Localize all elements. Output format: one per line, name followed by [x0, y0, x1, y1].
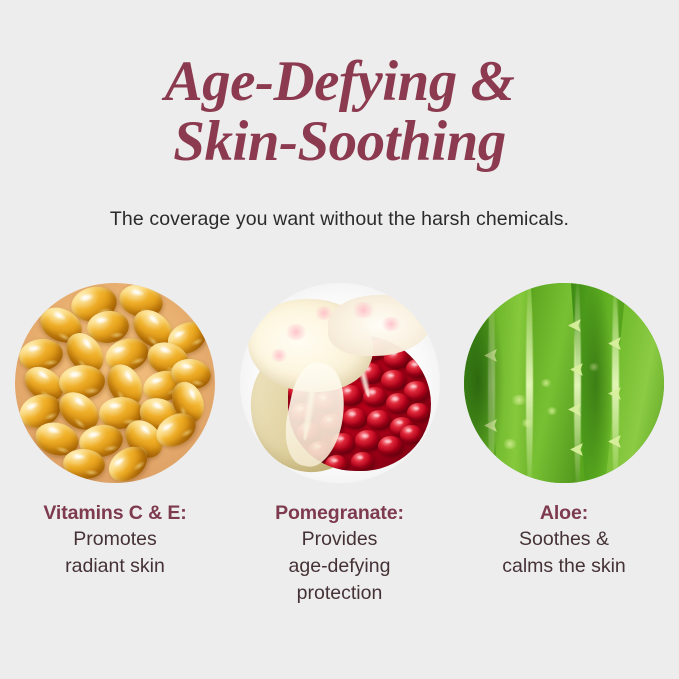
page-title-line-2: Skin-Soothing: [0, 112, 679, 172]
ingredient-body-line-1: Provides: [232, 526, 447, 553]
ingredient-title: Pomegranate:: [232, 500, 447, 526]
ingredient-title: Vitamins C & E:: [8, 500, 223, 526]
ingredient-caption-aloe: Aloe: Soothes & calms the skin: [457, 500, 672, 580]
page-subtitle: The coverage you want without the harsh …: [0, 206, 679, 232]
ingredient-body-line-3: protection: [232, 580, 447, 607]
ingredient-column-vitamins: Vitamins C & E: Promotes radiant skin: [15, 283, 215, 607]
golden-softgel-capsules-photo: [15, 283, 215, 483]
ingredient-body-line-1: Soothes &: [457, 526, 672, 553]
page-title-line-1: Age-Defying &: [0, 52, 679, 112]
ingredient-body-line-2: age-defying: [232, 553, 447, 580]
ingredient-caption-vitamins: Vitamins C & E: Promotes radiant skin: [8, 500, 223, 580]
ingredient-columns: Vitamins C & E: Promotes radiant skin: [0, 283, 679, 607]
ingredient-body-line-2: radiant skin: [8, 553, 223, 580]
aloe-vera-leaves-photo: [464, 283, 664, 483]
ingredient-body-line-1: Promotes: [8, 526, 223, 553]
ingredient-body-line-2: calms the skin: [457, 553, 672, 580]
page-title: Age-Defying & Skin-Soothing: [0, 52, 679, 172]
ingredient-caption-pomegranate: Pomegranate: Provides age-defying protec…: [232, 500, 447, 607]
ingredient-title: Aloe:: [457, 500, 672, 526]
ingredient-column-pomegranate: Pomegranate: Provides age-defying protec…: [240, 283, 440, 607]
cut-pomegranate-photo: [240, 283, 440, 483]
infographic-page: Age-Defying & Skin-Soothing The coverage…: [0, 0, 679, 679]
ingredient-column-aloe: Aloe: Soothes & calms the skin: [464, 283, 664, 607]
